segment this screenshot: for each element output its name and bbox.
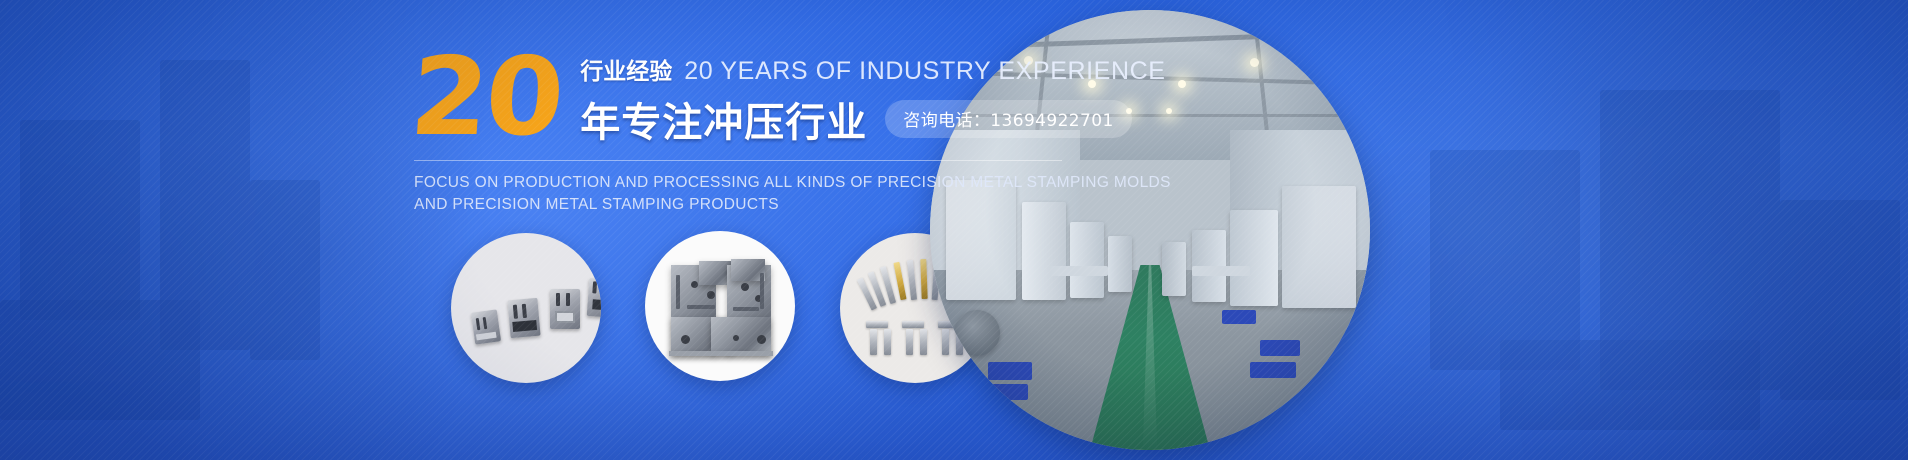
headline-row-bottom: 年专注冲压行业 咨询电话：13694922701 [580,90,1165,148]
product-circle-usb-connector-shells [451,233,601,383]
subtitle-line-1: FOCUS ON PRODUCTION AND PROCESSING ALL K… [414,172,1114,194]
headline-row-top: 行业经验 20 YEARS OF INDUSTRY EXPERIENCE [580,52,1165,86]
headline-row: 20 行业经验 20 YEARS OF INDUSTRY EXPERIENCE … [414,46,1114,148]
headline-divider [414,160,1062,161]
headline-text-column: 行业经验 20 YEARS OF INDUSTRY EXPERIENCE 年专注… [580,46,1165,148]
consult-phone-badge[interactable]: 咨询电话：13694922701 [885,100,1131,138]
industry-experience-cn: 行业经验 [580,52,672,86]
promo-banner: 20 行业经验 20 YEARS OF INDUSTRY EXPERIENCE … [0,0,1908,460]
stamping-focus-cn: 年专注冲压行业 [580,90,867,148]
product-circle-stamping-die-plates [645,231,795,381]
subtitle-line-2: AND PRECISION METAL STAMPING PRODUCTS [414,194,1114,216]
industry-experience-en: 20 YEARS OF INDUSTRY EXPERIENCE [684,57,1165,86]
headline-block: 20 行业经验 20 YEARS OF INDUSTRY EXPERIENCE … [414,46,1114,148]
years-number: 20 [407,50,564,145]
subtitle-block: FOCUS ON PRODUCTION AND PROCESSING ALL K… [414,172,1114,217]
